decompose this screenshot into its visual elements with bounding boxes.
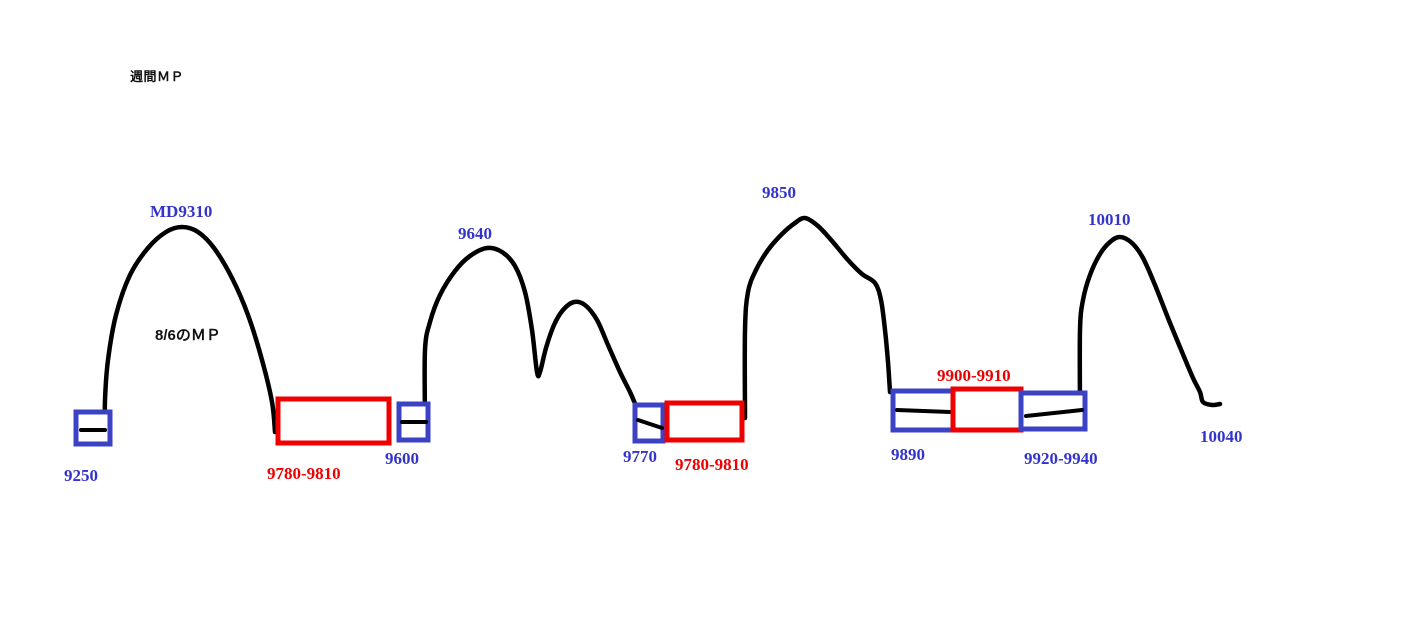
label-9900-9910: 9900-9910 bbox=[937, 367, 1011, 384]
label-9780-9810-right: 9780-9810 bbox=[675, 456, 749, 473]
peak-9640: 9640 bbox=[458, 225, 492, 242]
label-9890: 9890 bbox=[891, 446, 925, 463]
hand-drawn-curve-svg bbox=[0, 0, 1404, 640]
peak-9850: 9850 bbox=[762, 184, 796, 201]
page-title: 週間ＭＰ bbox=[130, 70, 184, 83]
curve-distribution-4 bbox=[1080, 237, 1220, 412]
end-10040: 10040 bbox=[1200, 428, 1243, 445]
box-9780-9810-left bbox=[278, 399, 389, 443]
peak-md9310: MD9310 bbox=[150, 203, 212, 220]
box-9890-marker-line bbox=[897, 410, 950, 412]
chart-canvas: 週間ＭＰ 8/6のＭＰ MD9310964098501001010040 925… bbox=[0, 0, 1404, 640]
curve-distribution-2 bbox=[425, 248, 636, 420]
label-9770: 9770 bbox=[623, 448, 657, 465]
label-9250: 9250 bbox=[64, 467, 98, 484]
label-9920-9940: 9920-9940 bbox=[1024, 450, 1098, 467]
box-9780-9810-right bbox=[667, 403, 742, 440]
annotation-mp-note: 8/6のＭＰ bbox=[155, 328, 221, 343]
curve-distribution-3 bbox=[745, 218, 890, 418]
value-boxes-group bbox=[76, 389, 1085, 444]
box-9900-9910 bbox=[953, 389, 1021, 430]
peak-10010: 10010 bbox=[1088, 211, 1131, 228]
label-9600: 9600 bbox=[385, 450, 419, 467]
label-9780-9810-left: 9780-9810 bbox=[267, 465, 341, 482]
